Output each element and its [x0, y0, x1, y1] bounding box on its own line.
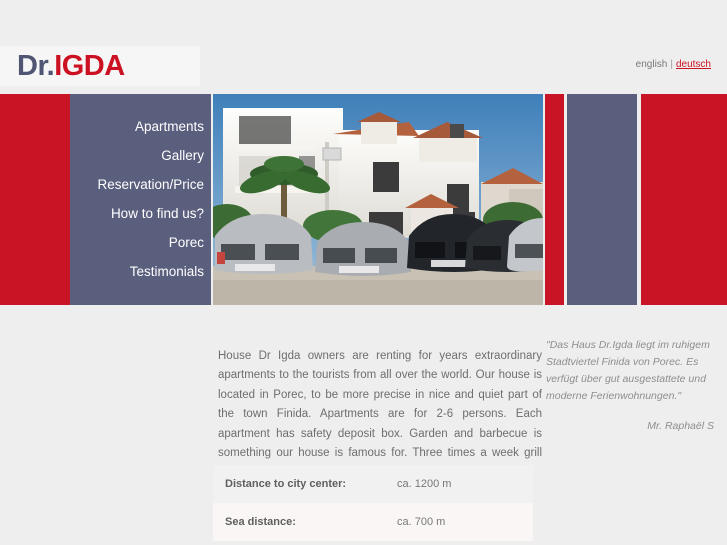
nav-item-how-to-find-us[interactable]: How to find us?	[70, 199, 211, 228]
logo-text-igda: IGDA	[54, 50, 125, 82]
nav-item-porec[interactable]: Porec	[70, 228, 211, 257]
language-switcher: english|deutsch	[636, 59, 711, 70]
hero-strip: Apartments Gallery Reservation/Price How…	[0, 94, 727, 305]
hero-photo	[213, 94, 543, 305]
decor-band-red-middle	[545, 94, 564, 305]
language-link-english[interactable]: english	[636, 59, 668, 70]
table-row: Sea distance: ca. 700 m	[213, 503, 533, 541]
distance-info-table: Distance to city center: ca. 1200 m Sea …	[213, 465, 533, 541]
info-label-city-center: Distance to city center:	[213, 465, 397, 503]
nav-item-apartments[interactable]: Apartments	[70, 112, 211, 141]
nav-item-testimonials[interactable]: Testimonials	[70, 257, 211, 286]
language-link-deutsch[interactable]: deutsch	[676, 59, 711, 70]
decor-band-slate-right	[567, 94, 637, 305]
testimonial-author: Mr. Raphaël S	[546, 418, 714, 435]
page-header: Dr.IGDA english|deutsch	[0, 0, 727, 93]
info-label-sea-distance: Sea distance:	[213, 503, 397, 541]
intro-paragraph: House Dr Igda owners are renting for yea…	[218, 347, 542, 484]
decor-band-red-left	[0, 94, 70, 305]
nav-item-reservation-price[interactable]: Reservation/Price	[70, 170, 211, 199]
page-content: House Dr Igda owners are renting for yea…	[0, 305, 727, 545]
testimonial-quote: "Das Haus Dr.Igda liegt im ruhigem Stadt…	[546, 337, 714, 405]
info-value-city-center: ca. 1200 m	[397, 465, 533, 503]
main-navigation: Apartments Gallery Reservation/Price How…	[70, 94, 211, 305]
logo-text-dr: Dr.	[17, 50, 54, 82]
decor-band-red-right	[641, 94, 727, 305]
nav-item-gallery[interactable]: Gallery	[70, 141, 211, 170]
logo-wordmark: Dr.IGDA	[17, 52, 125, 81]
villa-photo-illustration	[213, 94, 543, 305]
language-separator: |	[670, 59, 673, 70]
table-row: Distance to city center: ca. 1200 m	[213, 465, 533, 503]
info-value-sea-distance: ca. 700 m	[397, 503, 533, 541]
testimonial-block: "Das Haus Dr.Igda liegt im ruhigem Stadt…	[546, 337, 714, 435]
site-logo[interactable]: Dr.IGDA	[0, 46, 200, 86]
